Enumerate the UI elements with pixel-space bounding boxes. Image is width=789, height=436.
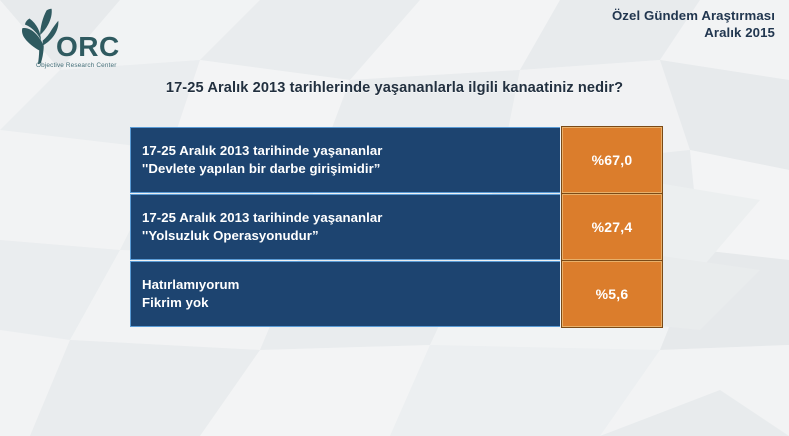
answer-label-cell: 17-25 Aralık 2013 tarihinde yaşananlar '…	[130, 127, 560, 193]
orc-logo: ORC Objective Research Center	[8, 6, 158, 76]
results-table: 17-25 Aralık 2013 tarihinde yaşananlar '…	[130, 127, 662, 327]
answer-label-line1: 17-25 Aralık 2013 tarihinde yaşananlar	[142, 142, 560, 160]
svg-text:ORC: ORC	[56, 31, 120, 62]
orc-tagline: Objective Research Center	[36, 62, 117, 69]
answer-percentage-cell: %27,4	[562, 194, 662, 260]
answer-label-line1: Hatırlamıyorum	[142, 276, 560, 294]
answer-label-cell: 17-25 Aralık 2013 tarihinde yaşananlar '…	[130, 194, 560, 260]
question-title: 17-25 Aralık 2013 tarihlerinde yaşananla…	[0, 80, 789, 96]
survey-date: Aralık 2015	[612, 25, 775, 42]
answer-percentage-cell: %5,6	[562, 261, 662, 327]
answer-label-line2: ''Devlete yapılan bir darbe girişimidir”	[142, 160, 560, 178]
svg-text:Objective Research Center: Objective Research Center	[36, 62, 117, 69]
answer-percentage-cell: %67,0	[562, 127, 662, 193]
table-row: Hatırlamıyorum Fikrim yok %5,6	[130, 261, 662, 327]
answer-label-line2: Fikrim yok	[142, 294, 560, 312]
survey-header: Özel Gündem Araştırması Aralık 2015	[612, 8, 775, 42]
table-row: 17-25 Aralık 2013 tarihinde yaşananlar '…	[130, 194, 662, 260]
table-row: 17-25 Aralık 2013 tarihinde yaşananlar '…	[130, 127, 662, 193]
orc-wordmark: ORC	[56, 31, 120, 62]
answer-label-line2: ''Yolsuzluk Operasyonudur”	[142, 227, 560, 245]
answer-label-cell: Hatırlamıyorum Fikrim yok	[130, 261, 560, 327]
answer-label-line1: 17-25 Aralık 2013 tarihinde yaşananlar	[142, 209, 560, 227]
survey-name: Özel Gündem Araştırması	[612, 8, 775, 25]
slide-canvas: ORC Objective Research Center Özel Günde…	[0, 0, 789, 436]
orc-leaf-mark	[22, 9, 58, 65]
